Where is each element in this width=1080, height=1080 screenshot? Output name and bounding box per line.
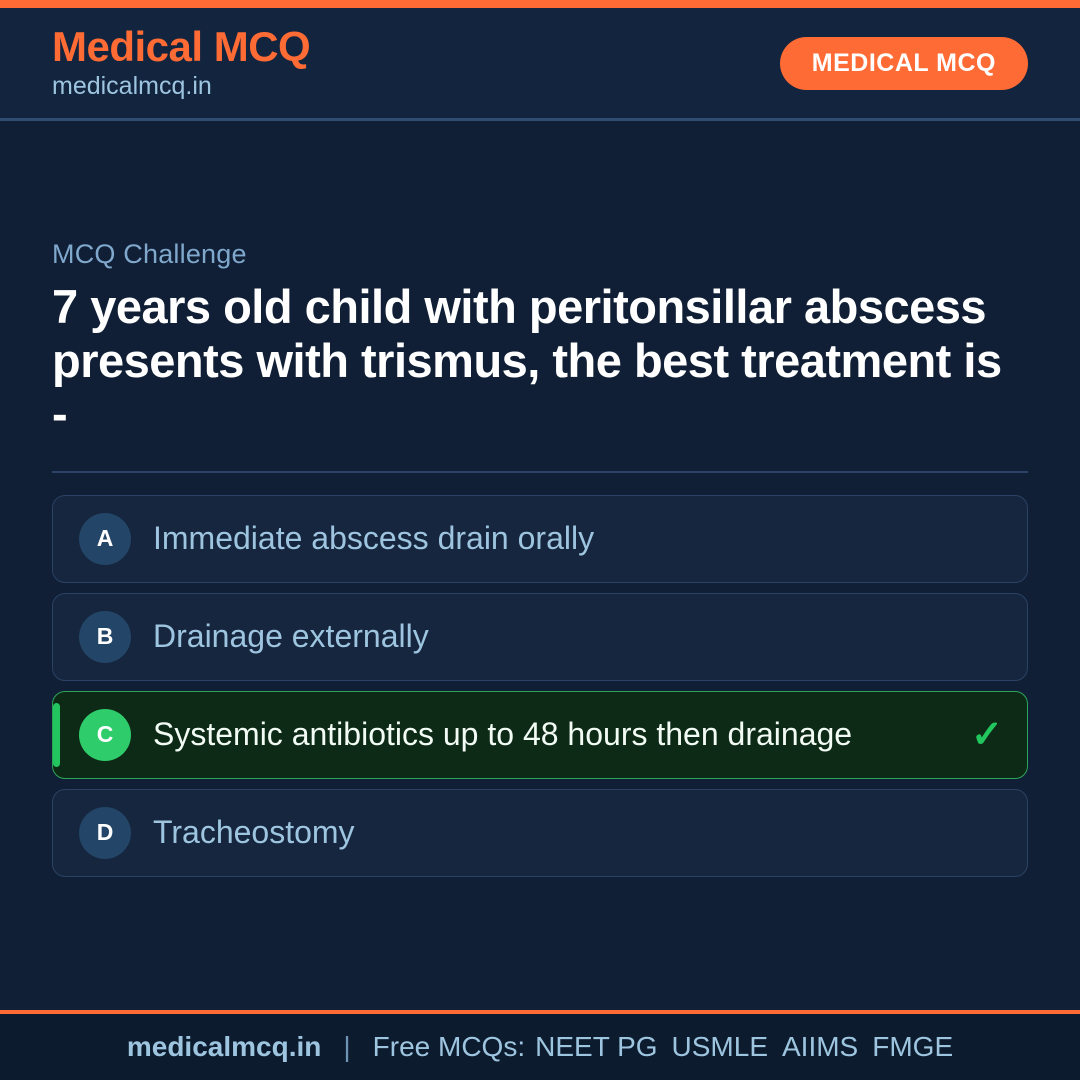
option-d[interactable]: D Tracheostomy <box>52 789 1028 877</box>
option-b[interactable]: B Drainage externally <box>52 593 1028 681</box>
option-letter-a: A <box>79 513 131 565</box>
page-header: Medical MCQ medicalmcq.in MEDICAL MCQ <box>0 8 1080 121</box>
brand-block: Medical MCQ medicalmcq.in <box>52 25 310 101</box>
footer-exam-neetpg[interactable]: NEET PG <box>535 1031 657 1063</box>
options-list: A Immediate abscess drain orally B Drain… <box>52 495 1028 877</box>
page-footer: medicalmcq.in | Free MCQs: NEET PG USMLE… <box>0 1010 1080 1080</box>
brand-title: Medical MCQ <box>52 25 310 69</box>
main-content: MCQ Challenge 7 years old child with per… <box>0 121 1080 877</box>
option-letter-d: D <box>79 807 131 859</box>
option-c-correct[interactable]: C Systemic antibiotics up to 48 hours th… <box>52 691 1028 779</box>
brand-subtitle: medicalmcq.in <box>52 71 310 101</box>
checkmark-icon: ✓ <box>971 716 1003 754</box>
option-letter-c: C <box>79 709 131 761</box>
option-letter-b: B <box>79 611 131 663</box>
option-a[interactable]: A Immediate abscess drain orally <box>52 495 1028 583</box>
top-accent-bar <box>0 0 1080 8</box>
footer-label: Free MCQs: <box>373 1031 525 1063</box>
footer-exam-fmge[interactable]: FMGE <box>872 1031 953 1063</box>
option-text-a: Immediate abscess drain orally <box>153 520 987 557</box>
footer-inner: medicalmcq.in | Free MCQs: NEET PG USMLE… <box>127 1031 953 1063</box>
option-text-c: Systemic antibiotics up to 48 hours then… <box>153 716 955 753</box>
option-text-b: Drainage externally <box>153 618 987 655</box>
footer-exam-usmle[interactable]: USMLE <box>672 1031 768 1063</box>
section-eyebrow-label: MCQ Challenge <box>52 239 1028 270</box>
footer-separator: | <box>343 1031 350 1063</box>
question-text: 7 years old child with peritonsillar abs… <box>52 280 1012 441</box>
question-divider <box>52 471 1028 473</box>
footer-exam-aiims[interactable]: AIIMS <box>782 1031 858 1063</box>
footer-site-link[interactable]: medicalmcq.in <box>127 1031 322 1063</box>
header-badge: MEDICAL MCQ <box>780 37 1028 90</box>
option-text-d: Tracheostomy <box>153 814 987 851</box>
